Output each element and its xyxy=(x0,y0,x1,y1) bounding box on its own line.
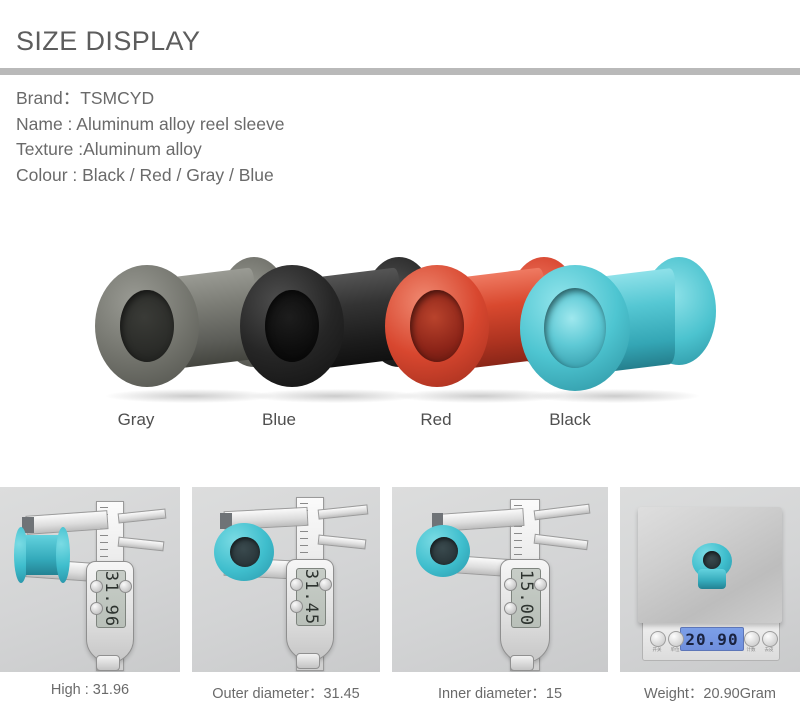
caliper-zero-button[interactable] xyxy=(504,578,517,591)
caliper-thumb-roller[interactable] xyxy=(96,655,120,671)
scale-tare-key[interactable] xyxy=(762,631,778,647)
measurement-panel-inner-diameter: 15.00 xyxy=(392,487,608,672)
caption-height: High : 31.96 xyxy=(0,682,180,698)
scale-count-key-label: 计数 xyxy=(742,647,760,653)
measurement-panel-outer-diameter: 31.45 xyxy=(192,487,380,672)
caliper-body: 31.96 xyxy=(86,561,134,663)
color-label-red: Red xyxy=(396,410,476,430)
caliper-display: 31.96 xyxy=(96,570,126,628)
spool-near-flange xyxy=(385,265,489,387)
spool-barrel xyxy=(698,569,726,589)
spool-shadow xyxy=(531,389,698,403)
spool-bore xyxy=(703,551,721,569)
scale-display: 20.90 xyxy=(680,627,744,651)
spool-bore xyxy=(120,290,174,362)
caliper-reading: 31.96 xyxy=(101,571,121,627)
caliper-unit-button[interactable] xyxy=(90,602,103,615)
caliper-reading: 15.00 xyxy=(516,570,536,626)
scale-unit-key[interactable] xyxy=(668,631,684,647)
color-label-blue: Blue xyxy=(239,410,319,430)
scale-reading: 20.90 xyxy=(685,630,738,649)
scale-tare-key-label: 去皮 xyxy=(760,647,778,653)
spec-row-colour: Colour : Black / Red / Gray / Blue xyxy=(16,163,436,189)
product-group-photo xyxy=(0,205,800,405)
measured-spool xyxy=(214,523,278,583)
spec-row-brand: Brand：TSMCYD xyxy=(16,86,436,112)
caliper-unit-button[interactable] xyxy=(504,602,517,615)
color-label-gray: Gray xyxy=(96,410,176,430)
spool-bore xyxy=(430,537,458,565)
caliper-body: 31.45 xyxy=(286,559,334,661)
product-spool-cyan xyxy=(520,249,710,399)
scale-power-key[interactable] xyxy=(650,631,666,647)
color-label-black: Black xyxy=(530,410,610,430)
spool-barrel xyxy=(26,535,58,575)
caliper-on-button[interactable] xyxy=(534,578,547,591)
caliper-display: 31.45 xyxy=(296,568,326,626)
spool-flange-right xyxy=(56,527,70,583)
caliper-reading: 31.45 xyxy=(301,569,321,625)
measurement-panel-weight: 20.90 开关 单位 计数 去皮 xyxy=(620,487,800,672)
spool-near-flange xyxy=(520,265,630,391)
caption-inner-diameter: Inner diameter：15 xyxy=(392,682,608,703)
caliper-display: 15.00 xyxy=(511,568,541,628)
scale-count-key[interactable] xyxy=(744,631,760,647)
caption-weight: Weight：20.90Gram xyxy=(620,682,800,703)
spool-bore xyxy=(544,288,606,368)
spool-bore xyxy=(265,290,319,362)
caliper-zero-button[interactable] xyxy=(90,580,103,593)
specification-list: Brand：TSMCYD Name : Aluminum alloy reel … xyxy=(16,86,436,188)
page-title: SIZE DISPLAY xyxy=(16,26,200,57)
caliper-on-button[interactable] xyxy=(119,580,132,593)
scale-power-key-label: 开关 xyxy=(648,647,666,653)
spec-row-texture: Texture :Aluminum alloy xyxy=(16,137,436,163)
weighed-spool xyxy=(692,543,732,591)
caliper-on-button[interactable] xyxy=(319,578,332,591)
measured-spool xyxy=(416,525,472,579)
caliper-unit-button[interactable] xyxy=(290,600,303,613)
caliper-zero-button[interactable] xyxy=(290,578,303,591)
measurement-panel-height: 31.96 xyxy=(0,487,180,672)
spec-row-name: Name : Aluminum alloy reel sleeve xyxy=(16,112,436,138)
caliper-body: 15.00 xyxy=(500,559,550,663)
spool-near-flange xyxy=(95,265,199,387)
spool-bore xyxy=(230,537,260,567)
spool-near-flange xyxy=(240,265,344,387)
caliper-thumb-roller[interactable] xyxy=(296,653,320,669)
caption-outer-diameter: Outer diameter：31.45 xyxy=(192,682,380,703)
caliper-thumb-roller[interactable] xyxy=(510,655,534,671)
spool-bore xyxy=(410,290,464,362)
scale-unit-key-label: 单位 xyxy=(666,647,684,653)
title-divider xyxy=(0,68,800,75)
measured-spool xyxy=(14,527,72,583)
measurement-panel-row: 31.96 31.45 xyxy=(0,487,800,672)
